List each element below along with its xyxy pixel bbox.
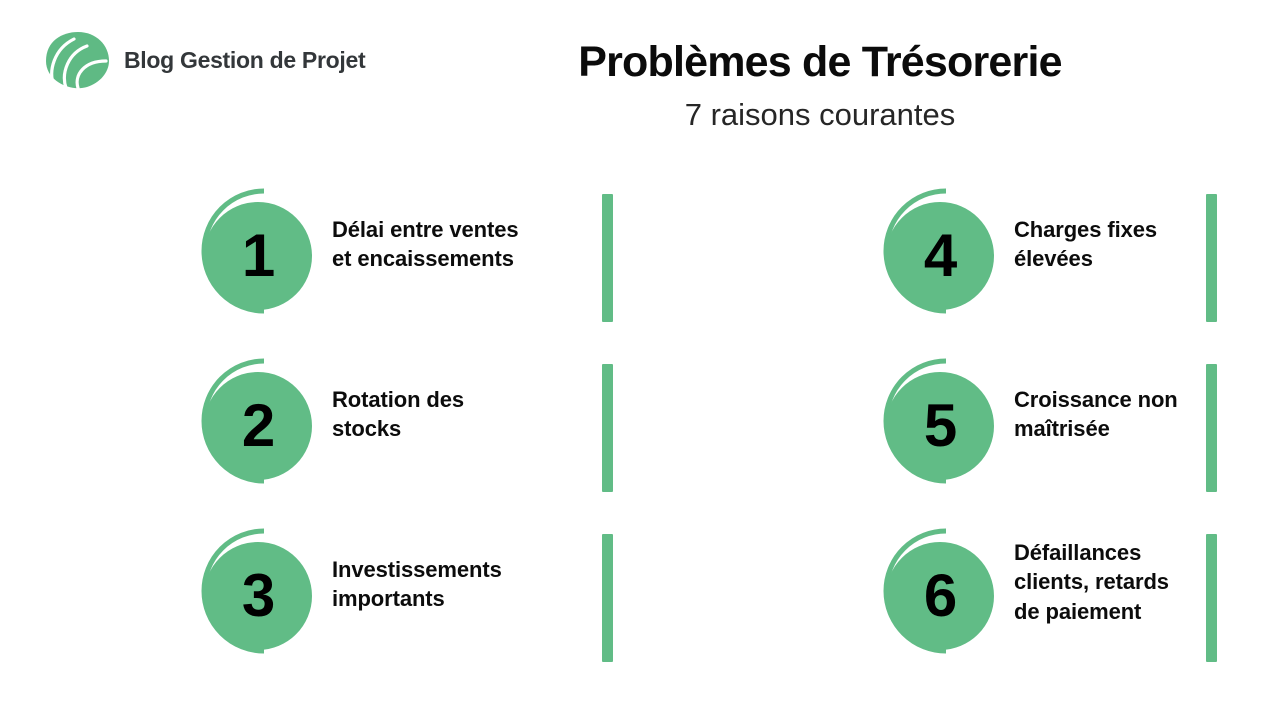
item-label: Défaillances clients, retards de paiemen… [1014, 538, 1169, 626]
item-label: Croissance non maîtrisée [1014, 385, 1178, 444]
accent-bar [602, 194, 613, 322]
item-label: Rotation des stocks [332, 385, 464, 444]
reasons-grid: 1 Délai entre ventes et encaissements 4 … [0, 186, 1280, 696]
heading-block: Problèmes de Trésorerie 7 raisons couran… [400, 38, 1240, 133]
accent-bar [1206, 534, 1217, 662]
page-title: Problèmes de Trésorerie [400, 38, 1240, 86]
number-badge: 2 [190, 356, 318, 492]
item-label: Délai entre ventes et encaissements [332, 215, 519, 274]
accent-bar [1206, 194, 1217, 322]
list-item: 3 Investissements importants [190, 526, 802, 696]
number-badge: 5 [872, 356, 1000, 492]
leaf-shell-logo-icon [40, 31, 112, 89]
item-number: 2 [204, 372, 312, 480]
number-badge: 3 [190, 526, 318, 662]
item-label: Investissements importants [332, 555, 502, 614]
accent-bar [602, 534, 613, 662]
item-number: 5 [886, 372, 994, 480]
accent-bar [602, 364, 613, 492]
number-badge: 1 [190, 186, 318, 322]
list-item: 4 Charges fixes élevées [802, 186, 1280, 356]
list-item: 2 Rotation des stocks [190, 356, 802, 526]
item-number: 3 [204, 542, 312, 650]
item-label: Charges fixes élevées [1014, 215, 1157, 274]
brand-logo-block: Blog Gestion de Projet [40, 28, 365, 92]
list-item: 6 Défaillances clients, retards de paiem… [802, 526, 1280, 696]
item-number: 4 [886, 202, 994, 310]
item-number: 6 [886, 542, 994, 650]
number-badge: 4 [872, 186, 1000, 322]
accent-bar [1206, 364, 1217, 492]
number-badge: 6 [872, 526, 1000, 662]
brand-name: Blog Gestion de Projet [124, 47, 365, 74]
page-subtitle: 7 raisons courantes [400, 96, 1240, 133]
list-item: 1 Délai entre ventes et encaissements [190, 186, 802, 356]
list-item: 5 Croissance non maîtrisée [802, 356, 1280, 526]
item-number: 1 [204, 202, 312, 310]
